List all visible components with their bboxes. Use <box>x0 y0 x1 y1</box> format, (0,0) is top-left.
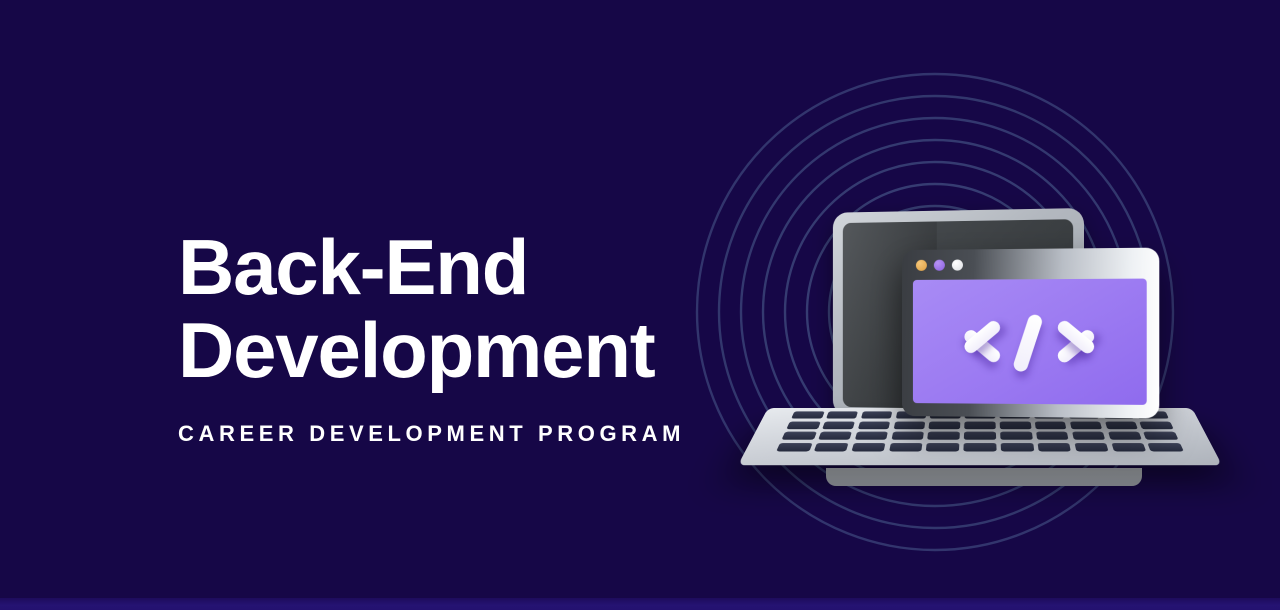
code-brackets-icon <box>963 309 1094 374</box>
keyboard-key <box>926 443 959 452</box>
keyboard-key <box>776 443 812 452</box>
keyboard-key <box>1037 443 1071 452</box>
keyboard-key <box>858 421 891 429</box>
keyboard-row <box>774 443 1186 452</box>
keyboard-key <box>861 411 893 418</box>
laptop-base-front <box>826 468 1142 486</box>
keyboard-key <box>1072 432 1106 440</box>
keyboard-key <box>851 443 885 452</box>
keyboard-key <box>1070 421 1103 429</box>
keyboard-row <box>784 421 1175 429</box>
keyboard-key <box>814 443 849 452</box>
keyboard-key <box>826 411 858 418</box>
keyboard-key <box>889 443 923 452</box>
code-window-titlebar <box>902 248 1159 280</box>
keyboard-key <box>1035 421 1067 429</box>
keyboard-key <box>891 432 924 440</box>
window-dot-white-icon <box>952 259 963 270</box>
keyboard-row <box>779 432 1180 440</box>
keyboard-key <box>1139 421 1173 429</box>
text-block: Back-End Development CAREER DEVELOPMENT … <box>178 226 698 447</box>
keyboard-key <box>855 432 889 440</box>
keyboard-key <box>964 432 996 440</box>
keyboard-key <box>1108 432 1142 440</box>
laptop-illustration <box>760 150 1240 550</box>
window-dot-amber-icon <box>916 259 927 270</box>
keyboard-key <box>964 443 997 452</box>
keyboard-key <box>964 421 995 429</box>
keyboard-key <box>1074 443 1108 452</box>
banner-root: Back-End Development CAREER DEVELOPMENT … <box>0 0 1280 610</box>
keyboard-key <box>929 421 960 429</box>
keyboard-key <box>1143 432 1178 440</box>
keyboard-key <box>1000 421 1031 429</box>
code-window-screen <box>913 279 1147 405</box>
keyboard-key <box>1000 432 1032 440</box>
keyboard-key <box>928 432 960 440</box>
window-dot-purple-icon <box>934 259 945 270</box>
keyboard-key <box>1148 443 1184 452</box>
page-subtitle: CAREER DEVELOPMENT PROGRAM <box>178 421 698 447</box>
keyboard-key <box>1104 421 1137 429</box>
keyboard-key <box>782 432 817 440</box>
keyboard-key <box>818 432 852 440</box>
page-title: Back-End Development <box>178 226 698 393</box>
keyboard-key <box>893 421 925 429</box>
keyboard-key <box>791 411 824 418</box>
keyboard-key <box>787 421 821 429</box>
keyboard-key <box>1036 432 1069 440</box>
keyboard-key <box>1001 443 1034 452</box>
bottom-accent-strip <box>0 598 1280 610</box>
code-window <box>902 248 1159 419</box>
keyboard-key <box>1111 443 1146 452</box>
keyboard-key <box>822 421 855 429</box>
